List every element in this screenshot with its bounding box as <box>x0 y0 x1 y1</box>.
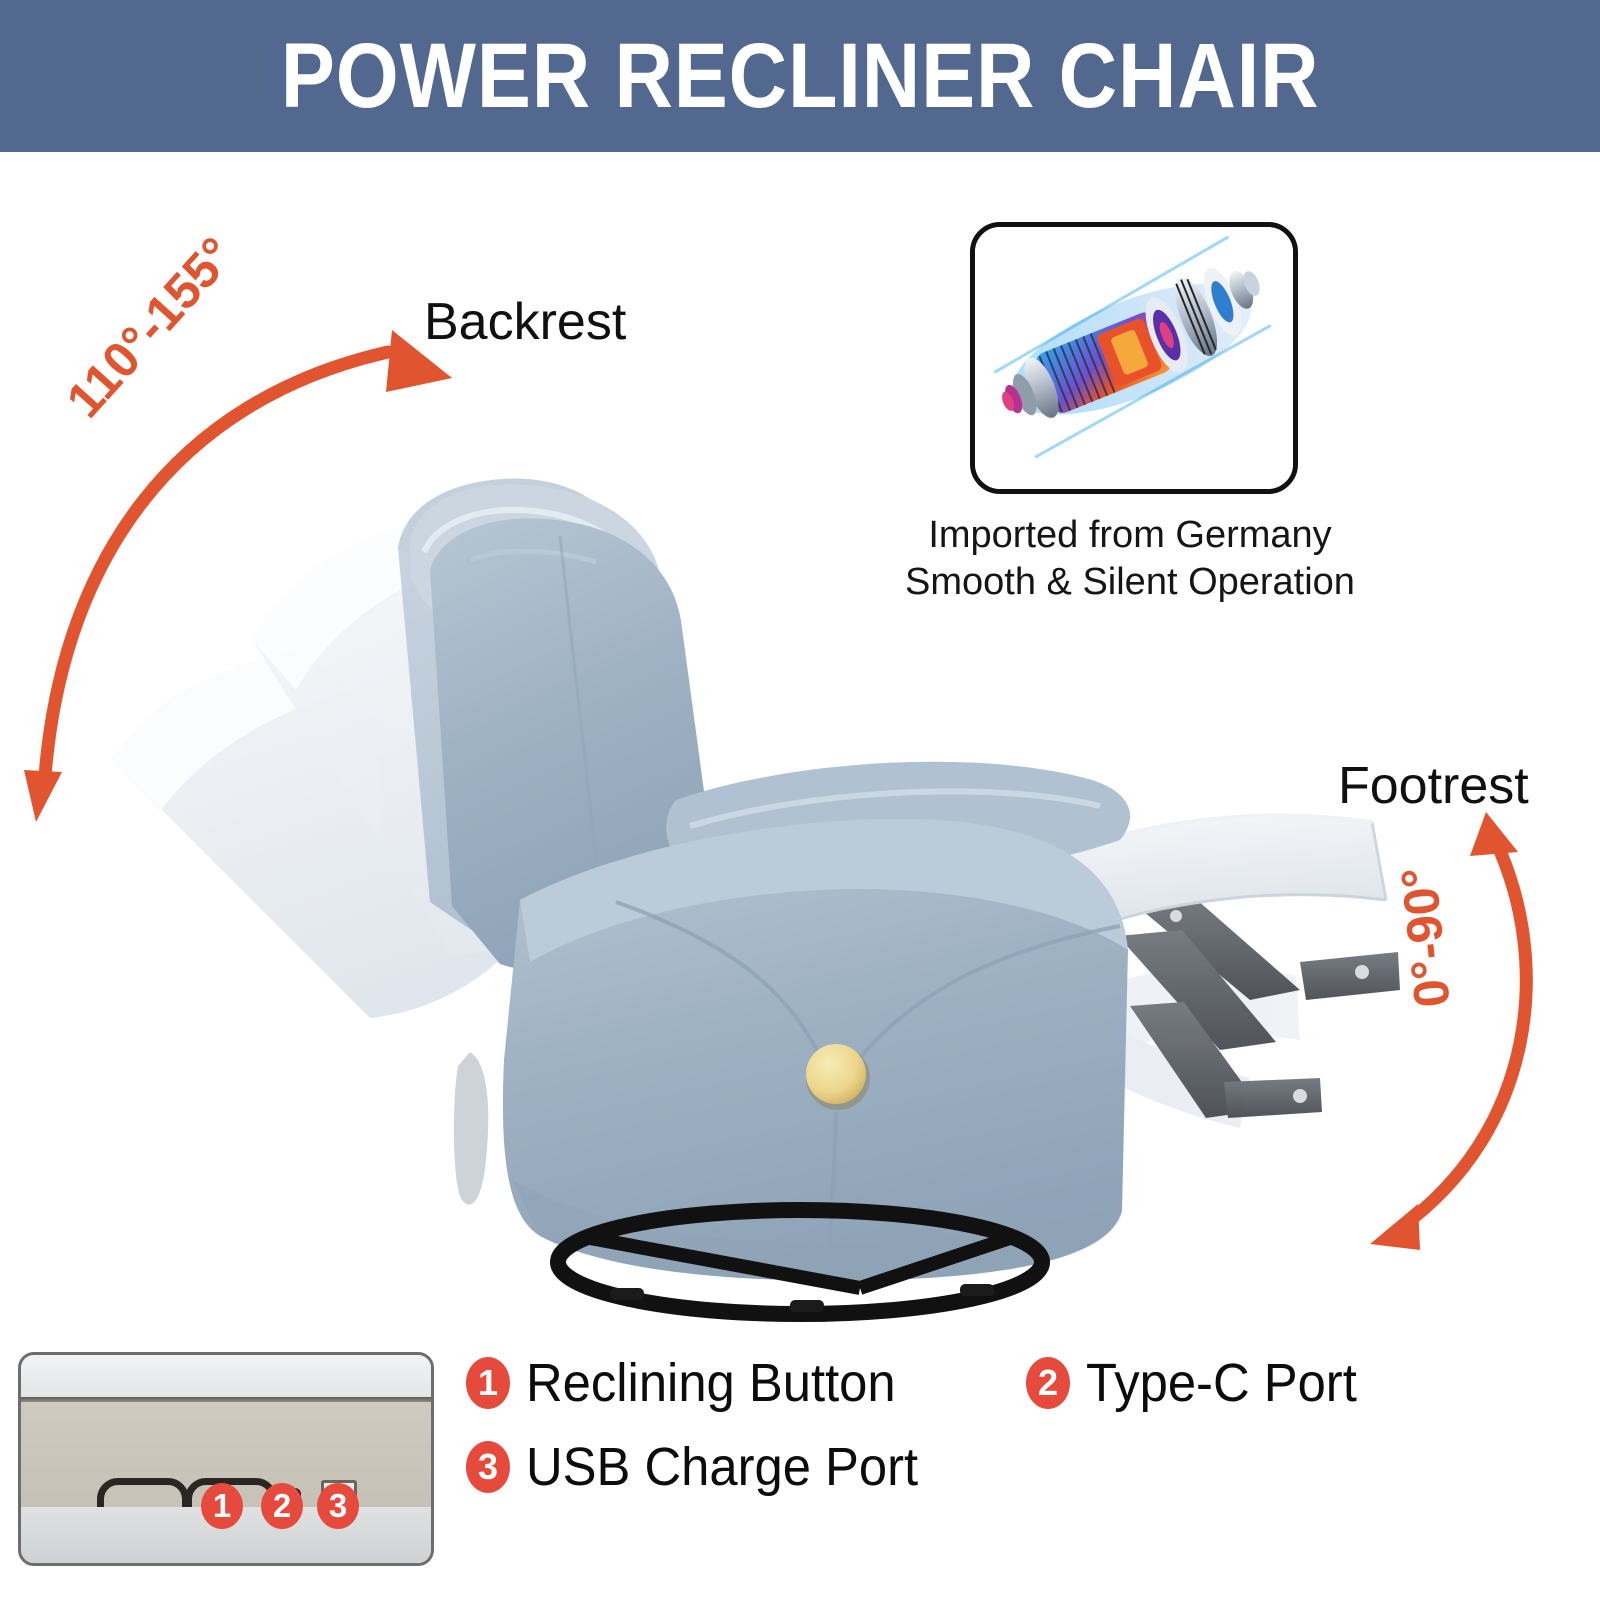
legend: 1 Reclining Button 2 Type-C Port 3 USB C… <box>466 1352 1576 1520</box>
panel-marker-2: 2 <box>261 1483 303 1529</box>
panel-marker-3: 3 <box>317 1483 359 1529</box>
legend-label-1: Reclining Button <box>526 1352 896 1414</box>
legend-badge-2: 2 <box>1026 1357 1070 1409</box>
footrest-label: Footrest <box>1338 756 1529 816</box>
legend-row-1: 1 Reclining Button 2 Type-C Port <box>466 1352 1576 1414</box>
recline-release-lever <box>454 1052 488 1204</box>
motor-icon <box>975 227 1293 489</box>
infographic-page: POWER RECLINER CHAIR <box>0 0 1600 1600</box>
legend-item-type-c-port: 2 Type-C Port <box>1026 1352 1374 1414</box>
motor-caption-line2: Smooth & Silent Operation <box>870 559 1390 606</box>
panel-upper-fabric <box>21 1355 431 1397</box>
legend-label-2: Type-C Port <box>1086 1352 1357 1414</box>
backrest-label: Backrest <box>424 292 626 352</box>
legend-item-reclining-button: 1 Reclining Button <box>466 1352 1026 1414</box>
legend-badge-1: 1 <box>466 1357 510 1409</box>
motor-caption: Imported from Germany Smooth & Silent Op… <box>870 512 1390 606</box>
panel-marker-1: 1 <box>201 1483 243 1529</box>
legend-row-2: 3 USB Charge Port <box>466 1436 1576 1498</box>
legend-label-3: USB Charge Port <box>526 1436 918 1498</box>
motor-callout-box <box>970 222 1298 494</box>
control-panel-photo: 1 2 3 <box>18 1352 434 1566</box>
legend-badge-3: 3 <box>466 1441 510 1493</box>
motor-caption-line1: Imported from Germany <box>870 512 1390 559</box>
legend-item-usb-charge-port: 3 USB Charge Port <box>466 1436 1026 1498</box>
